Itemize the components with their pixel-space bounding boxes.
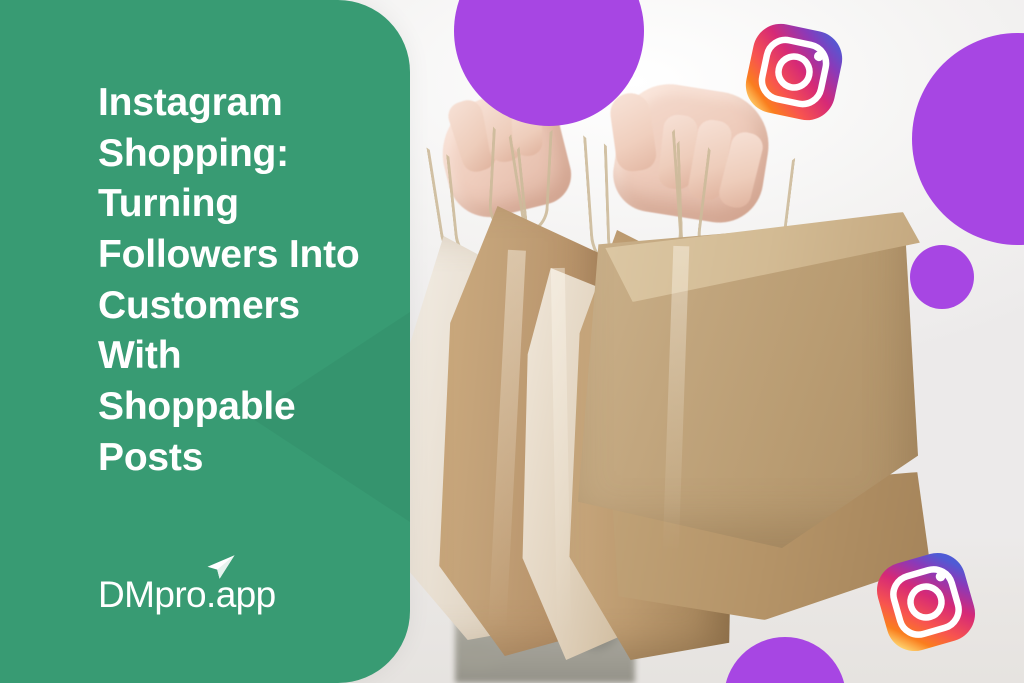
brand-logo[interactable]: DMpro.app <box>98 576 276 613</box>
page-title: Instagram Shopping: Turning Followers In… <box>98 78 396 484</box>
decorative-circle-mid-right <box>910 245 974 309</box>
brand-name: DMpro.app <box>98 576 276 613</box>
instagram-icon <box>735 13 854 132</box>
paper-plane-icon <box>206 554 236 580</box>
blog-cover: Instagram Shopping: Turning Followers In… <box>0 0 1024 683</box>
